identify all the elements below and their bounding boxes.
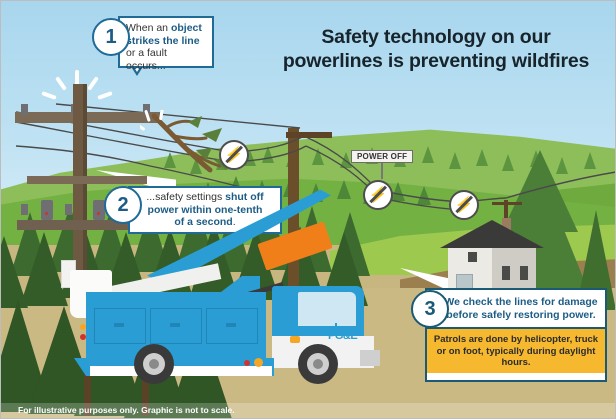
- callout-1-text: When an object strikes the line or a fau…: [120, 18, 212, 76]
- callout-3-headline: We check the lines for damage before saf…: [443, 296, 599, 321]
- callout-3: We check the lines for damage before saf…: [425, 288, 607, 382]
- rear-wheel: [134, 344, 174, 384]
- no-power-icon: ⚡: [219, 140, 249, 170]
- callout-3-headline-area: We check the lines for damage before saf…: [427, 290, 605, 327]
- marker-light-red: [80, 334, 86, 340]
- marker-light-amber: [254, 358, 263, 367]
- crossarm: [286, 132, 332, 138]
- callout-2-seg5: .: [233, 216, 236, 228]
- marker-light-red: [244, 360, 250, 366]
- pge-logo-mark: [326, 320, 346, 330]
- sign-post: [381, 163, 383, 179]
- no-power-icon: ⚡: [449, 190, 479, 220]
- fallen-branch: [140, 110, 230, 180]
- callout-3-number: 3: [411, 290, 449, 328]
- truck-brand-logo: PG&E: [328, 330, 357, 342]
- callout-1-seg4: or a fault occurs...: [126, 47, 167, 72]
- infographic-canvas: ⚡ ⚡ ⚡ POWER OFF Safety technology on our…: [0, 0, 616, 419]
- truck-lower-stripe: [90, 366, 272, 376]
- power-off-sign: POWER OFF: [351, 150, 413, 163]
- callout-2-number: 2: [104, 186, 142, 224]
- callout-1-seg3: strikes the line: [126, 35, 200, 47]
- callout-1-number: 1: [92, 18, 130, 56]
- callout-3-note: Patrols are done by helicopter, truck or…: [432, 334, 600, 368]
- crossarm-middle: [27, 176, 147, 184]
- crossarm-upper: [15, 112, 160, 123]
- front-wheel: [298, 344, 338, 384]
- attic-window: [468, 252, 477, 262]
- page-title: Safety technology on our powerlines is p…: [268, 25, 604, 73]
- window: [502, 266, 510, 280]
- roof: [440, 220, 544, 248]
- power-off-sign-label: POWER OFF: [351, 150, 413, 163]
- callout-2-seg1: ...safety settings: [146, 191, 225, 203]
- callout-1: When an object strikes the line or a fau…: [118, 16, 214, 68]
- callout-2-seg3: power within one-tenth: [148, 204, 263, 216]
- front-bumper: [360, 350, 380, 366]
- cab-marker-light: [290, 336, 300, 343]
- marker-light-amber: [80, 324, 86, 330]
- callout-2-seg4: of a second: [174, 216, 232, 228]
- callout-2-seg2: shut off: [225, 191, 264, 203]
- callout-3-note-area: Patrols are done by helicopter, truck or…: [427, 327, 605, 373]
- utility-bucket-truck: PG&E: [60, 240, 390, 400]
- callout-1-seg2: object: [171, 22, 202, 34]
- title-line-2: powerlines is preventing wildfires: [268, 49, 604, 73]
- disclaimer-text: For illustrative purposes only. Graphic …: [18, 405, 235, 415]
- callout-1-seg1: When an: [126, 22, 171, 34]
- no-power-icon: ⚡: [363, 180, 393, 210]
- transformer-1: [41, 200, 53, 220]
- disclaimer-bar: For illustrative purposes only. Graphic …: [0, 403, 616, 419]
- window: [520, 266, 528, 280]
- title-line-1: Safety technology on our: [268, 25, 604, 49]
